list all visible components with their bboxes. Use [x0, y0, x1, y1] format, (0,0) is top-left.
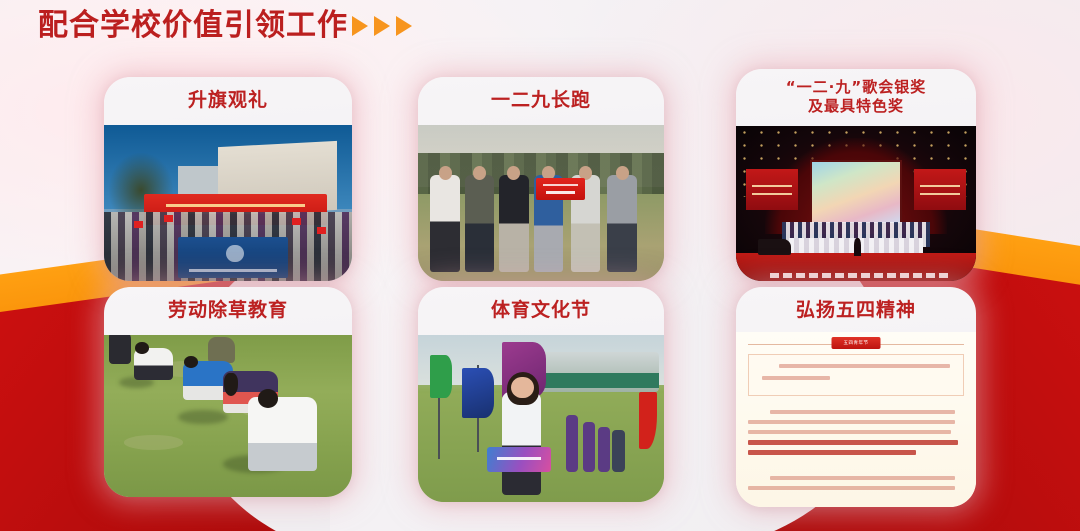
- card-long-run[interactable]: 一二九长跑: [418, 77, 664, 281]
- photo-sign: [536, 178, 585, 200]
- photo-flag-ceremony: [104, 125, 352, 281]
- page-title: 配合学校价值引领工作: [38, 11, 412, 41]
- article-intro-box: [748, 354, 964, 396]
- card-title-line-1: “一二·九”歌会银奖: [736, 78, 976, 97]
- card-sports-culture-festival[interactable]: 体育文化节: [418, 287, 664, 502]
- card-title-flag-ceremony: 升旗观礼: [104, 77, 352, 111]
- triangle-right-icon: [374, 16, 390, 36]
- card-title-weeding-labor-education: 劳动除草教育: [104, 287, 352, 321]
- triangle-right-icon: [352, 16, 368, 36]
- article-paragraph-2: [748, 474, 964, 504]
- photo-led-screen: [810, 160, 901, 225]
- photo-stage-banner-right: [914, 169, 967, 209]
- photo-college-board: [487, 447, 551, 472]
- card-title-sports-culture-festival: 体育文化节: [418, 287, 664, 321]
- photo-song-contest: [736, 126, 976, 281]
- photo-college-flag: [178, 237, 287, 278]
- card-title-long-run: 一二九长跑: [418, 77, 664, 111]
- triangle-right-icon: [396, 16, 412, 36]
- card-weeding-labor-education[interactable]: 劳动除草教育: [104, 287, 352, 497]
- article-badge: 五四青年节: [832, 337, 881, 349]
- page-title-text: 配合学校价值引领工作: [38, 11, 348, 41]
- photo-sports-festival: [418, 335, 664, 502]
- card-title-song-contest-award: “一二·九”歌会银奖 及最具特色奖: [736, 69, 976, 116]
- card-grid: 升旗观礼 一二九长跑: [0, 0, 1080, 531]
- photo-may-fourth-article: 五四青年节: [736, 332, 976, 507]
- photo-credits-line: [770, 273, 952, 278]
- arrow-group: [352, 16, 412, 36]
- card-title-may-fourth-spirit: 弘扬五四精神: [736, 287, 976, 321]
- card-flag-ceremony[interactable]: 升旗观礼: [104, 77, 352, 281]
- card-may-fourth-spirit[interactable]: 弘扬五四精神 五四青年节: [736, 287, 976, 507]
- photo-weeding: [104, 335, 352, 497]
- photo-long-run: [418, 125, 664, 281]
- photo-stage-banner-left: [746, 169, 799, 209]
- card-song-contest-award[interactable]: “一二·九”歌会银奖 及最具特色奖: [736, 69, 976, 281]
- card-title-line-2: 及最具特色奖: [736, 97, 976, 116]
- article-paragraph-1: [748, 406, 964, 466]
